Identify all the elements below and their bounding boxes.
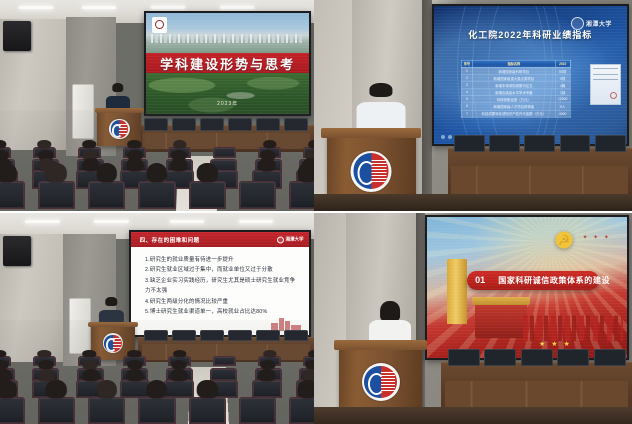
- doves-icon: ✦ ✦ ✦: [582, 234, 610, 241]
- golden-column-icon: [447, 259, 467, 324]
- slide-bullet-list: 1.研究生的就业质量有待进一步提升 2.研究生就业区域过于集中，而就业单位又过于…: [145, 255, 298, 318]
- slide-top-left: 学科建设形势与思考 2023年: [146, 13, 308, 115]
- red-stamp-icon: [610, 92, 618, 100]
- certificate-document: [590, 64, 621, 105]
- slide-footer-photo: [146, 73, 308, 114]
- wall-edge: [422, 0, 432, 211]
- metrics-table: 序号 指标名称 2022 1新增国家级科研项目55项 2新增国家级重大重点类项目…: [461, 60, 571, 118]
- podium-emblem-icon: [362, 363, 400, 401]
- slide-title-band: 学科建设形势与思考: [146, 53, 308, 73]
- projection-screen: ✦ ✦ ✦ ★ ★ ★ 01 国家科研诚信政策体系的建设: [425, 215, 629, 360]
- table-row: 1新增国家级科研项目55项: [461, 67, 570, 74]
- settings-icon[interactable]: [441, 135, 445, 139]
- audience-area: [0, 320, 314, 424]
- tiananmen-gate-icon: [475, 303, 527, 338]
- col-metric: 指标名称: [473, 60, 555, 67]
- list-item: 1.研究生的就业质量有待进一步提升: [145, 255, 298, 266]
- floor: [314, 194, 632, 211]
- projection-screen: 学科建设形势与思考 2023年: [144, 11, 310, 117]
- university-name: 湘潭大学: [286, 237, 304, 243]
- list-item: 4.研究生两级分化的情况比较严重: [145, 297, 298, 308]
- slide-header-photo: [146, 13, 308, 54]
- wall-speaker-icon: [3, 236, 31, 266]
- audience-area: [0, 110, 314, 211]
- projection-screen: 湘潭大学 化工院2022年科研业绩指标 序号 指标名称 2022 1新增国家级科…: [432, 4, 629, 145]
- section-number: 01: [475, 275, 485, 285]
- slide-subtitle: 2023年: [146, 100, 308, 107]
- table-header-row: 序号 指标名称 2022: [461, 60, 570, 67]
- photo-collage: 学科建设形势与思考 2023年: [0, 0, 632, 424]
- slide-header-title: 四、存在的困难和问题: [140, 236, 200, 244]
- panel-bottom-right: ✦ ✦ ✦ ★ ★ ★ 01 国家科研诚信政策体系的建设: [314, 213, 632, 424]
- table-row: 4新增出版高水平学术专著1部: [461, 89, 570, 96]
- floor: [314, 407, 632, 424]
- pen-icon[interactable]: [448, 135, 452, 139]
- university-logo: 湘潭大学: [277, 236, 304, 243]
- university-seal-icon: [277, 236, 284, 243]
- col-year: 2022: [555, 60, 570, 67]
- panel-top-right: 湘潭大学 化工院2022年科研业绩指标 序号 指标名称 2022 1新增国家级科…: [314, 0, 632, 211]
- list-item: 2.研究生就业区域过于集中，而就业单位又过于分散: [145, 265, 298, 276]
- table-row: 2新增国家级重大重点类项目9项: [461, 75, 570, 82]
- panel-bottom-left: 四、存在的困难和问题 湘潭大学 1.研究生的就业质量有待进一步提升 2.研究生就…: [0, 213, 314, 424]
- stage-chairs: [448, 349, 626, 366]
- slide-title: 化工院2022年科研业绩指标: [434, 28, 627, 41]
- list-item: 3.缺乏企业实习实践经历，研究生尤其是硕士研究生就业竞争力不太强: [145, 276, 298, 297]
- red-skyline: [523, 310, 623, 341]
- table-row: 5科研到账经费（万元）12500: [461, 96, 570, 103]
- panel-top-left: 学科建设形势与思考 2023年: [0, 0, 314, 211]
- wall-speaker-icon: [3, 21, 31, 51]
- section-title: 国家科研诚信政策体系的建设: [498, 275, 610, 286]
- university-name: 湘潭大学: [586, 19, 612, 28]
- table-row: 3新增本领域权威期刊论文4篇: [461, 82, 570, 89]
- slide-header-band: 四、存在的困难和问题 湘潭大学: [131, 232, 309, 247]
- col-index: 序号: [461, 60, 472, 67]
- slide-top-right: 湘潭大学 化工院2022年科研业绩指标 序号 指标名称 2022 1新增国家级科…: [434, 6, 627, 143]
- podium-emblem-icon: [351, 151, 392, 192]
- slide-title: 学科建设形势与思考: [160, 54, 295, 73]
- section-title-pill: 01 国家科研诚信政策体系的建设: [467, 271, 599, 291]
- table-row: 7科技成果转化或知识产权许可金额（万元）4000: [461, 110, 570, 117]
- stage-chairs: [454, 135, 626, 152]
- party-emblem-icon: [551, 227, 577, 253]
- slide-bottom-right: ✦ ✦ ✦ ★ ★ ★ 01 国家科研诚信政策体系的建设: [427, 217, 627, 358]
- university-badge-icon: [152, 17, 167, 33]
- presenter-figure: [359, 84, 404, 130]
- table-row: 6新增国家级人才项目获得者9人: [461, 103, 570, 110]
